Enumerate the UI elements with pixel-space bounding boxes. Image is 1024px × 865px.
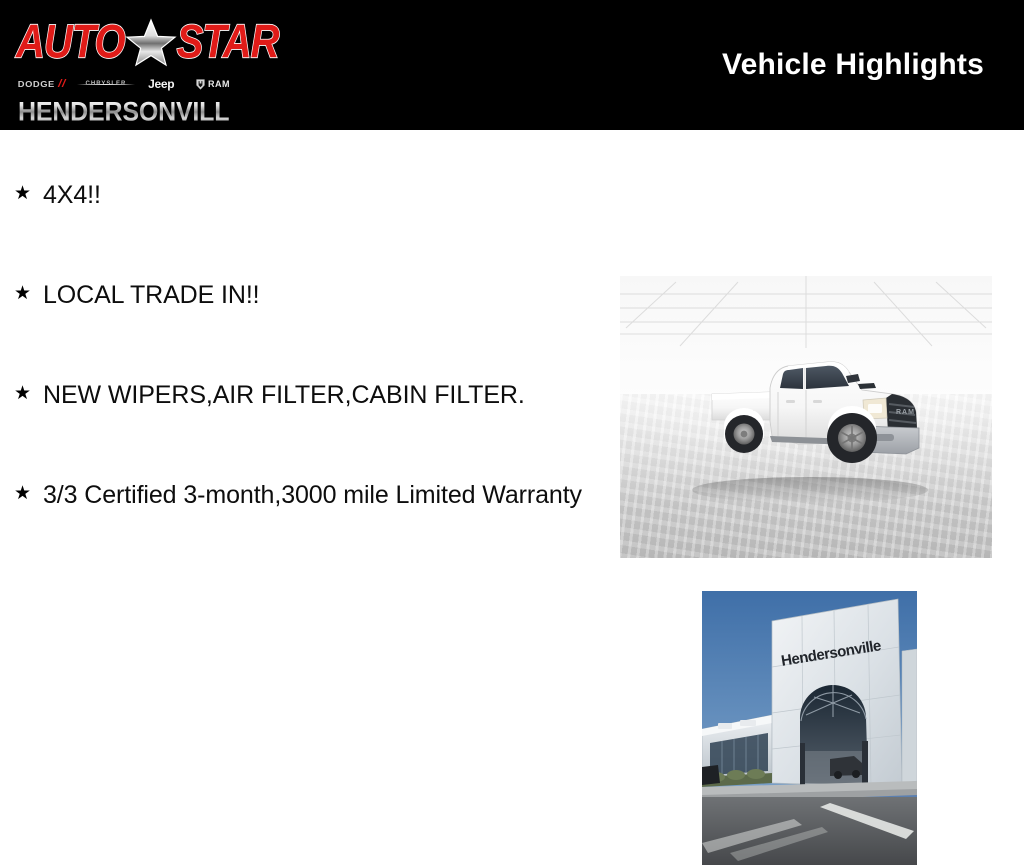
logo-city-name: HENDERSONVILLE [18,97,230,127]
content-area: ★ 4X4!! ★ LOCAL TRADE IN!! ★ NEW WIPERS,… [0,130,1024,768]
dealership-illustration: Hendersonville [702,591,917,865]
vehicle-photo[interactable]: RAM 2500 [620,276,992,558]
highlights-list: ★ 4X4!! ★ LOCAL TRADE IN!! ★ NEW WIPERS,… [14,178,600,512]
star-icon [125,18,177,68]
list-item: ★ 3/3 Certified 3-month,3000 mile Limite… [14,478,600,512]
brand-chrysler: CHRYSLER [86,79,127,89]
star-bullet-icon: ★ [14,378,34,410]
header-bar: AUTO STAR [0,0,1024,130]
dealership-photo[interactable]: Hendersonville [702,591,917,865]
brand-dodge-slash: // [58,79,66,89]
logo-word-auto: AUTO [16,18,125,65]
highlight-text: 3/3 Certified 3-month,3000 mile Limited … [43,478,600,512]
dealer-logo[interactable]: AUTO STAR [14,16,229,116]
brand-dodge-label: DODGE [18,79,55,89]
highlight-text: NEW WIPERS,AIR FILTER,CABIN FILTER. [43,378,600,412]
logo-wordmark: AUTO STAR [14,16,229,68]
chrysler-wing-icon [77,84,136,85]
list-item: ★ 4X4!! [14,178,600,212]
truck-illustration: RAM 2500 [620,276,992,558]
ram-shield-icon [196,79,205,90]
star-bullet-icon: ★ [14,478,34,510]
page-title: Vehicle Highlights [722,48,984,82]
brand-strip: DODGE // CHRYSLER Jeep RAM [20,74,230,94]
list-item: ★ LOCAL TRADE IN!! [14,278,600,312]
star-bullet-icon: ★ [14,178,34,210]
star-bullet-icon: ★ [14,278,34,310]
brand-ram-label: RAM [208,79,230,89]
logo-word-star: STAR [177,18,279,65]
highlight-text: 4X4!! [43,178,600,212]
brand-dodge: DODGE // [18,79,66,89]
svg-text:RAM: RAM [896,409,915,416]
highlight-text: LOCAL TRADE IN!! [43,278,600,312]
brand-ram: RAM [196,79,230,90]
brand-jeep: Jeep [148,79,174,89]
list-item: ★ NEW WIPERS,AIR FILTER,CABIN FILTER. [14,378,600,412]
